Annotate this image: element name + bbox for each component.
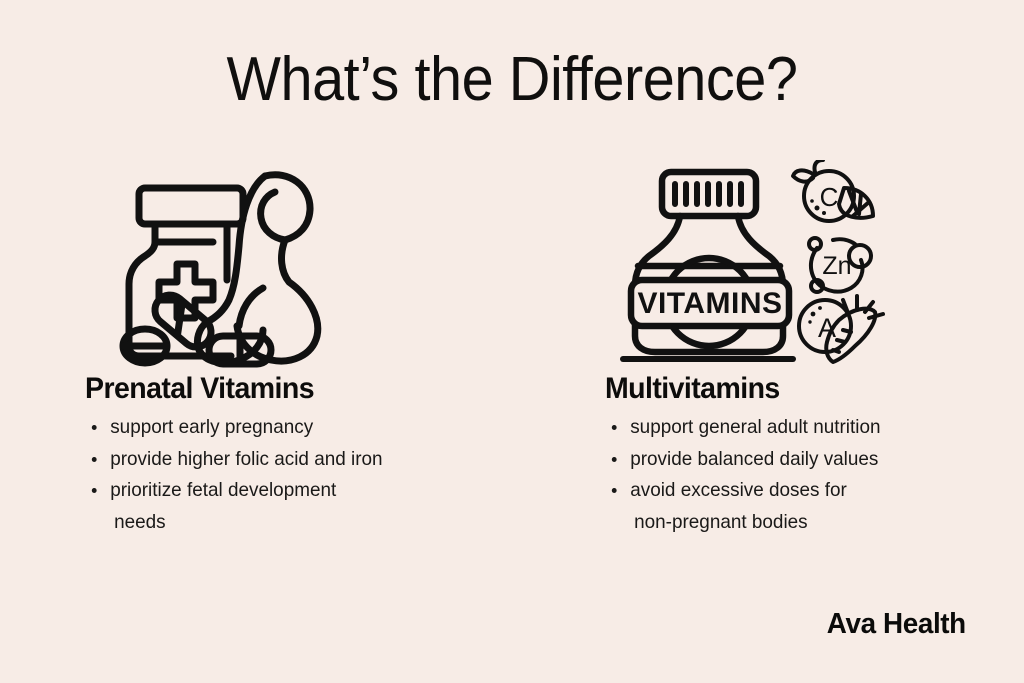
infographic-canvas: What’s the Difference? (0, 0, 1024, 683)
bullet-list-multivitamins: support general adult nutrition provide … (605, 412, 1005, 538)
list-item-text-wrap: needs (110, 507, 512, 539)
svg-text:C: C (820, 182, 839, 212)
medical-cross-icon (159, 264, 213, 318)
vitamin-a-icon: A (799, 296, 883, 362)
list-item: provide higher folic acid and iron (85, 444, 512, 476)
list-item: avoid excessive doses for non-pregnant b… (605, 475, 993, 538)
list-item: provide balanced daily values (605, 444, 993, 476)
list-item-text: avoid excessive doses for (630, 479, 847, 501)
page-title: What’s the Difference? (36, 44, 988, 115)
list-item-text: prioritize fetal development (110, 479, 336, 501)
bullet-dot-icon (612, 488, 617, 493)
zinc-icon: Zn (809, 238, 871, 292)
bullet-list-prenatal: support early pregnancy provide higher f… (85, 412, 525, 538)
list-item: support early pregnancy (85, 412, 512, 444)
svg-text:Zn: Zn (822, 252, 851, 280)
multivitamins-illustration: VITAMINS C (617, 160, 887, 372)
ribbed-cap (662, 172, 756, 216)
column-prenatal: Prenatal Vitamins support early pregnanc… (85, 160, 525, 538)
bottle-label-text: VITAMINS (637, 287, 782, 320)
list-item: support general adult nutrition (605, 412, 993, 444)
list-item-text: support general adult nutrition (630, 416, 880, 438)
list-item-text-wrap: non-pregnant bodies (630, 507, 993, 539)
prenatal-vitamins-illustration (113, 160, 343, 372)
bullet-dot-icon (92, 457, 97, 462)
capsule-pill-horizontal (209, 336, 271, 364)
bullet-dot-icon (612, 457, 617, 462)
bullet-dot-icon (92, 488, 97, 493)
column-multivitamins: VITAMINS C (605, 160, 1005, 538)
bullet-dot-icon (92, 425, 97, 430)
list-item: prioritize fetal development needs (85, 475, 512, 538)
column-heading-multivitamins: Multivitamins (605, 372, 985, 406)
brand-logo: Ava Health (827, 608, 966, 641)
list-item-text: support early pregnancy (110, 416, 313, 438)
vitamin-c-icon: C (793, 160, 873, 221)
list-item-text: provide higher folic acid and iron (110, 448, 382, 470)
column-heading-prenatal: Prenatal Vitamins (85, 372, 503, 406)
bullet-dot-icon (612, 425, 617, 430)
list-item-text: provide balanced daily values (630, 448, 878, 470)
